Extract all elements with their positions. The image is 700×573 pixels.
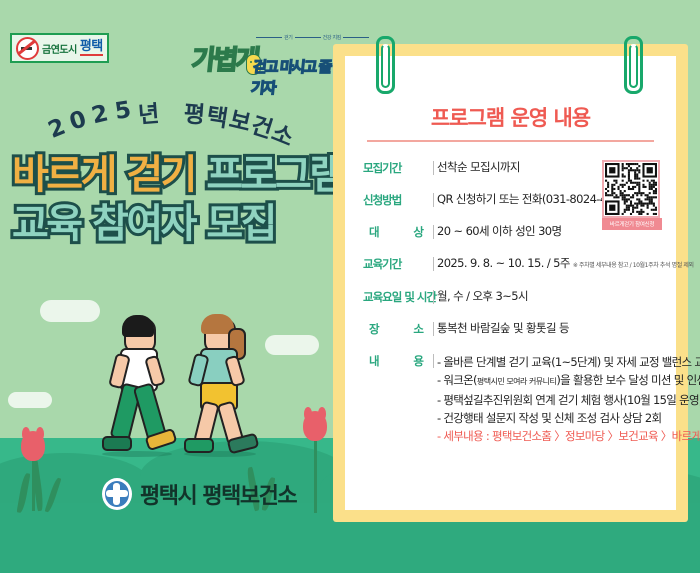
title-part-a: 바르게 걷기	[12, 152, 206, 198]
content-list: - 올바른 단계별 걷기 교육(1~5단계) 및 자세 교정 밸런스 교육- 워…	[437, 353, 700, 445]
info-row-label-char: 용	[413, 353, 423, 369]
slogan-small-text: 걷고 마시고 즐기자	[250, 56, 334, 98]
info-row-label: 모집기간	[363, 160, 437, 176]
smoke-free-city-logo: 금연도시 평택	[10, 33, 109, 63]
info-row-note: ※ 주차별 세부내용 참고 / 10월1주차 추석 명절 제외	[573, 262, 694, 269]
info-row-label-char: 대	[369, 224, 379, 240]
info-row-label: 교육요일 및 시간	[363, 289, 437, 305]
info-row-label: 신청방법	[363, 192, 437, 208]
info-row-value: 선착순 모집시까지	[437, 160, 520, 175]
info-row-label-char: 장	[369, 321, 379, 337]
info-row-value: 통복천 바람길숲 및 황톳길 등	[437, 321, 569, 336]
info-row-label: 교육기간	[363, 256, 437, 272]
no-smoking-icon	[16, 37, 39, 60]
tulip-stem	[32, 453, 35, 511]
shoe-back	[184, 438, 214, 453]
slogan-tiny-text: 걷기건강 지킴	[254, 34, 371, 41]
arch-headline-char: 0	[67, 107, 89, 136]
walker-male-illustration	[100, 318, 180, 458]
info-card: 프로그램 운영 내용 모집기간선착순 모집시까지신청방법QR 신청하기 또는 전…	[345, 56, 676, 510]
info-row-label: 대상	[363, 224, 437, 240]
hair	[122, 315, 154, 337]
info-row-value: 20 ~ 60세 이하 성인 30명	[437, 224, 562, 239]
card-title: 프로그램 운영 내용	[345, 102, 676, 132]
arch-headline-char	[161, 94, 168, 120]
arch-headline-char: 5	[113, 97, 132, 125]
tulip-stem	[314, 433, 317, 513]
content-list-item-sub: 평택시민 모여라 커뮤니티	[477, 377, 557, 386]
smoke-free-label: 금연도시	[42, 41, 77, 56]
info-row-label: 내용	[363, 353, 437, 369]
info-row-label-char: 소	[413, 321, 423, 337]
arch-headline-char: 평	[183, 94, 206, 129]
walker-female-illustration	[180, 318, 265, 458]
qr-caption: 바르게걷기 참여신청	[602, 218, 662, 230]
title-line-1: 바르게 걷기 프로그램	[12, 152, 332, 199]
content-list-item: - 워크온(평택시민 모여라 커뮤니티)을 활용한 보수 달성 미션 및 인센티…	[437, 371, 700, 391]
content-list-item: - 건강행태 설문지 작성 및 신체 조성 검사 상담 2회	[437, 409, 700, 427]
content-list-item: - 평택섶길추진위원회 연계 걷기 체험 행사(10월 15일 운영)	[437, 391, 700, 409]
arch-headline-char: 택	[204, 96, 229, 133]
title-line-2-text: 교육 참여자 모집	[12, 201, 275, 247]
info-row-content: 내용- 올바른 단계별 걷기 교육(1~5단계) 및 자세 교정 밸런스 교육-…	[363, 353, 663, 445]
qr-code-icon[interactable]	[602, 160, 660, 218]
tulip-flower	[21, 431, 45, 461]
card-divider	[367, 140, 654, 142]
info-row-label: 장소	[363, 321, 437, 337]
arch-headline: 2025년 평택보건소	[56, 96, 291, 146]
info-row-value: 2025. 9. 8. ~ 10. 15. / 5주※ 주차별 세부내용 참고 …	[437, 256, 694, 273]
organization-name: 평택시 평택보건소	[140, 478, 296, 510]
cloud-icon	[40, 300, 100, 322]
cloud-icon	[8, 392, 52, 408]
info-row-label-char: 내	[369, 353, 379, 369]
info-row: 장소통복천 바람길숲 및 황톳길 등	[363, 321, 663, 337]
info-row: 교육기간2025. 9. 8. ~ 10. 15. / 5주※ 주차별 세부내용…	[363, 256, 663, 273]
tulip-flower	[303, 411, 327, 441]
arch-headline-char: 2	[90, 101, 111, 130]
city-name-label: 평택	[80, 40, 103, 56]
main-title: 바르게 걷기 프로그램 교육 참여자 모집	[12, 152, 332, 248]
organization-brand: 평택시 평택보건소	[102, 478, 296, 510]
title-line-2: 교육 참여자 모집	[12, 201, 332, 248]
info-row-label-char: 상	[413, 224, 423, 240]
poster-root: 금연도시 평택 걷기건강 지킴 가볍게 걷고 마시고 즐기자 2025년 평택보…	[0, 0, 700, 573]
paperclip-icon	[376, 36, 395, 94]
walker-shadow	[102, 451, 172, 457]
info-row: 교육요일 및 시간월, 수 / 오후 3~5시	[363, 289, 663, 305]
arch-headline-char: 년	[137, 94, 160, 129]
content-list-item: - 올바른 단계별 걷기 교육(1~5단계) 및 자세 교정 밸런스 교육	[437, 353, 700, 371]
cloud-icon	[265, 335, 319, 355]
content-list-item: - 세부내용 : 평택보건소홈 〉정보마당 〉보건교육 〉바르게걷기교육안내문 …	[437, 427, 700, 445]
pyeongtaek-city-emblem-icon	[102, 478, 132, 510]
campaign-slogan-art: 걷기건강 지킴 가볍게 걷고 마시고 즐기자	[192, 30, 332, 75]
title-part-b: 프로그램	[206, 152, 343, 198]
paperclip-icon	[624, 36, 643, 94]
info-row-value: 월, 수 / 오후 3~5시	[437, 289, 528, 304]
shoe-back	[102, 436, 132, 451]
qr-block[interactable]: 바르게걷기 참여신청	[602, 160, 662, 230]
